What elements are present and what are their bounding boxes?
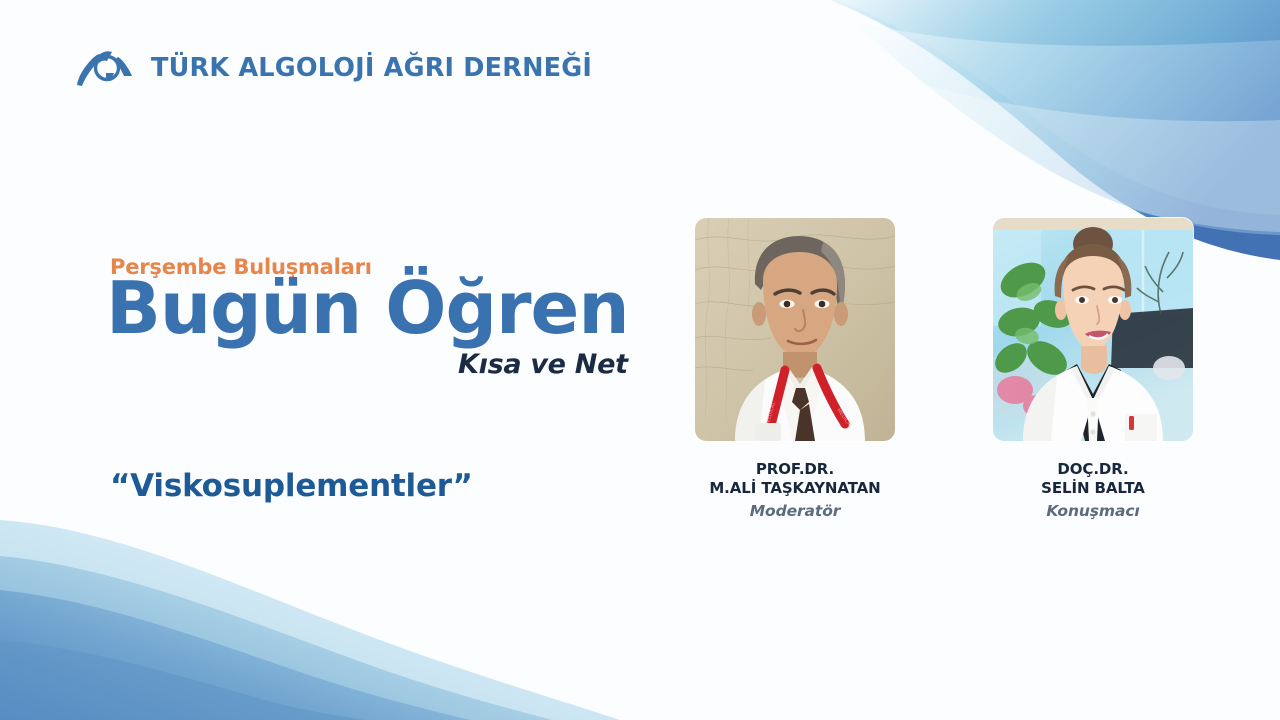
page-title: Bugün Öğren	[106, 272, 629, 344]
topic-title: “Viskosuplementler”	[110, 468, 473, 504]
speaker-name-0: PROF.DR. M.ALİ TAŞKAYNATAN	[695, 460, 895, 498]
speaker-role-1: Konuşmacı	[993, 502, 1193, 520]
speaker-card-presenter: DOÇ.DR. SELİN BALTA Konuşmacı	[993, 218, 1193, 520]
speaker-role-0: Moderatör	[695, 502, 895, 520]
speaker-name-1: DOÇ.DR. SELİN BALTA	[993, 460, 1193, 498]
algoloji-mark-icon	[74, 45, 140, 91]
speaker-photo-1	[993, 218, 1193, 441]
brand-logo: TÜRK ALGOLOJİ AĞRI DERNEĞİ	[74, 45, 592, 91]
brand-logo-text: TÜRK ALGOLOJİ AĞRI DERNEĞİ	[151, 53, 592, 83]
tagline-text: Kısa ve Net	[458, 349, 628, 380]
presentation-slide: TÜRK ALGOLOJİ AĞRI DERNEĞİ Perşembe Bulu…	[0, 0, 1280, 720]
speaker-card-moderator: MEDICAL MEDICAL PROF.DR. M.ALİ TAŞKAYNAT…	[695, 218, 895, 520]
speaker-photo-0: MEDICAL MEDICAL	[695, 218, 895, 441]
